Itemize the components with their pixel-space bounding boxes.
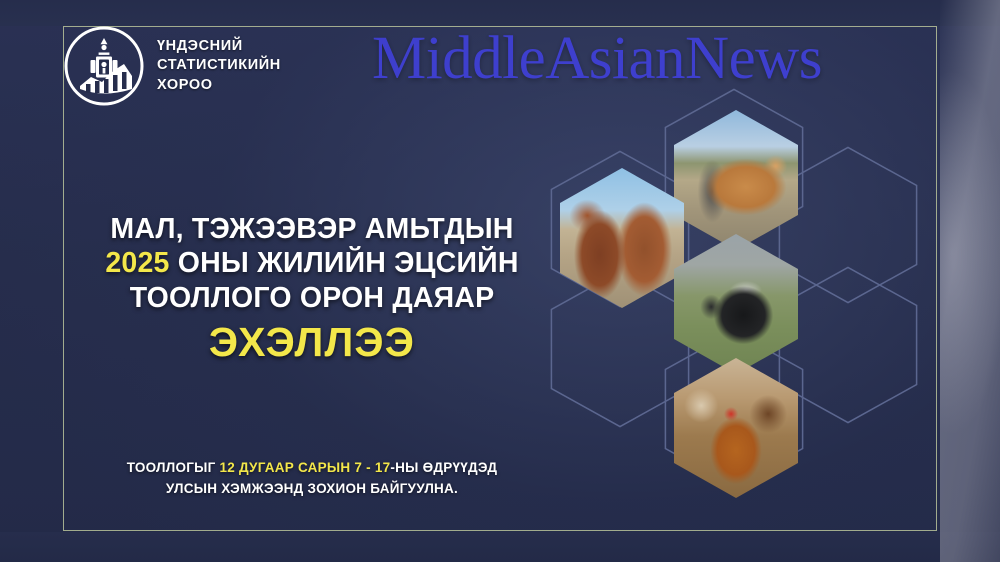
poster-root: ҮНДЭСНИЙ СТАТИСТИКИЙН ХОРОО MiddleAsianN… (0, 0, 1000, 562)
headline-line-2: 2025 ОНЫ ЖИЛИЙН ЭЦСИЙН (52, 246, 572, 280)
headline-year: 2025 (105, 247, 169, 279)
footer-line-1: ТООЛЛОГЫГ 12 ДУГААР САРЫН 7 - 17-НЫ ӨДРҮ… (52, 458, 572, 479)
headline-emphasis: ЭХЭЛЛЭЭ (52, 315, 572, 370)
organization-logo: ҮНДЭСНИЙ СТАТИСТИКИЙН ХОРОО (62, 24, 281, 108)
footer-note-block: ТООЛЛОГЫГ 12 ДУГААР САРЫН 7 - 17-НЫ ӨДРҮ… (52, 458, 572, 500)
hexagon-collage (556, 104, 956, 544)
headline-line-3: ТООЛЛОГО ОРОН ДАЯАР (52, 281, 572, 315)
letterbox-top (0, 0, 1000, 26)
organization-name: ҮНДЭСНИЙ СТАТИСТИКИЙН ХОРОО (157, 37, 281, 96)
headline-block: МАЛ, ТЭЖЭЭВЭР АМЬТДЫН 2025 ОНЫ ЖИЛИЙН ЭЦ… (52, 212, 572, 371)
mongolia-statistics-emblem-icon (62, 24, 146, 108)
logo-line-2: СТАТИСТИКИЙН (157, 56, 281, 76)
footer-prefix: ТООЛЛОГЫГ (127, 460, 220, 475)
watermark-text: MiddleAsianNews (372, 28, 822, 89)
logo-line-3: ХОРОО (157, 76, 281, 96)
footer-suffix: -НЫ ӨДРҮҮДЭД (390, 460, 497, 475)
footer-date-highlight: 12 ДУГААР САРЫН 7 - 17 (220, 460, 391, 475)
headline-line-2-rest: ОНЫ ЖИЛИЙН ЭЦСИЙН (170, 247, 519, 279)
logo-line-1: ҮНДЭСНИЙ (157, 37, 281, 57)
footer-line-2: УЛСЫН ХЭМЖЭЭНД ЗОХИОН БАЙГУУЛНА. (52, 479, 572, 500)
headline-line-1: МАЛ, ТЭЖЭЭВЭР АМЬТДЫН (52, 212, 572, 246)
